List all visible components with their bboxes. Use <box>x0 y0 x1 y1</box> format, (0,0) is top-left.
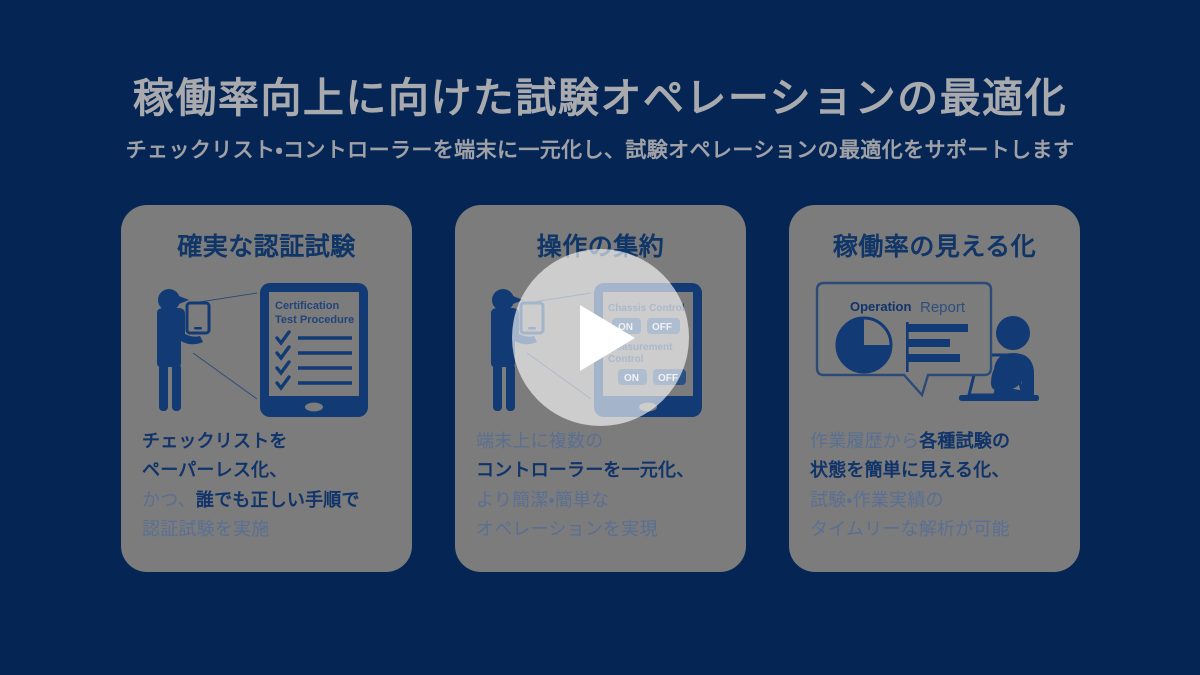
card-title: 確実な認証試験 <box>121 227 412 263</box>
feature-card-utilization-visualization: 稼働率の見える化 Operation Report <box>789 205 1080 572</box>
card-body-line: 作業履歴から各種試験の <box>810 427 1010 456</box>
card-body-segment: 試験・作業実績の <box>810 490 944 510</box>
card-body-line: ペーパーレス化、 <box>142 456 360 485</box>
svg-text:Certification: Certification <box>275 300 339 312</box>
card-body-segment: 端末上に複数の <box>476 431 603 451</box>
card-body-segment: 状態を簡単に見える化、 <box>810 460 1010 480</box>
card-body-segment: より簡潔・簡単な <box>476 490 609 510</box>
card-body-segment: 作業履歴から <box>810 431 919 451</box>
card-body-segment: チェックリストを <box>142 431 288 451</box>
feature-card-certification: 確実な認証試験 <box>121 205 412 572</box>
svg-text:Operation: Operation <box>850 299 911 314</box>
card-body-line: かつ、誰でも正しい手順で <box>142 486 360 515</box>
header: 稼働率向上に向けた試験オペレーションの最適化 チェックリスト・コントローラーを端… <box>0 74 1200 164</box>
card-body: チェックリストを ペーパーレス化、 かつ、誰でも正しい手順で 認証試験を実施 <box>142 427 360 544</box>
card-body-segment: オペレーションを実現 <box>476 519 658 539</box>
card-body-line: より簡潔・簡単な <box>476 486 694 515</box>
play-triangle-icon <box>580 305 635 371</box>
card-body-segment: ペーパーレス化、 <box>142 460 287 480</box>
page-subtitle: チェックリスト・コントローラーを端末に一元化し、試験オペレーションの最適化をサポ… <box>0 134 1200 164</box>
card-body-line: タイムリーな解析が可能 <box>810 515 1010 544</box>
svg-text:Test Procedure: Test Procedure <box>275 314 354 326</box>
card-body-line: 試験・作業実績の <box>810 486 1010 515</box>
person-tablet-checklist-illustration: Certification Test Procedure <box>121 267 412 425</box>
page-title: 稼働率向上に向けた試験オペレーションの最適化 <box>0 74 1200 122</box>
operation-report-dashboard-illustration: Operation Report <box>789 267 1080 425</box>
card-body-segment: 各種試験の <box>919 431 1010 451</box>
card-body-segment: 認証試験を実施 <box>142 519 269 539</box>
card-body-line: 端末上に複数の <box>476 427 694 456</box>
card-body-segment: コントローラーを一元化、 <box>476 460 694 480</box>
card-body-line: コントローラーを一元化、 <box>476 456 694 485</box>
card-body: 端末上に複数の コントローラーを一元化、 より簡潔・簡単な オペレーションを実現 <box>476 427 694 544</box>
card-body-segment: 誰でも正しい手順で <box>196 490 360 510</box>
card-body: 作業履歴から各種試験の 状態を簡単に見える化、 試験・作業実績の タイムリーな解… <box>810 427 1010 544</box>
card-body-line: チェックリストを <box>142 427 360 456</box>
card-title: 稼働率の見える化 <box>789 227 1080 263</box>
card-body-segment: タイムリーな解析が可能 <box>810 519 1010 539</box>
play-button[interactable] <box>512 249 689 426</box>
card-body-line: オペレーションを実現 <box>476 515 694 544</box>
card-body-line: 認証試験を実施 <box>142 515 360 544</box>
card-body-segment: かつ、 <box>142 490 196 510</box>
svg-text:Report: Report <box>920 299 966 316</box>
card-body-line: 状態を簡単に見える化、 <box>810 456 1010 485</box>
